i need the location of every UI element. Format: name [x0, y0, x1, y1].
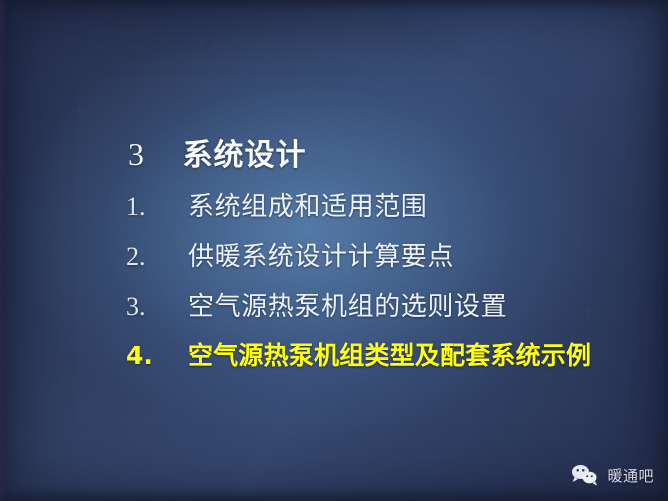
outline-item-label: 空气源热泵机组的选则设置 — [188, 286, 507, 323]
outline-item[interactable]: 2.供暖系统设计计算要点 — [126, 236, 646, 286]
section-heading: 3 系统设计 — [128, 130, 307, 174]
outline-item[interactable]: 3.空气源热泵机组的选则设置 — [126, 286, 646, 336]
outline-item[interactable]: 4.空气源热泵机组类型及配套系统示例 — [126, 336, 646, 386]
outline-item-label: 系统组成和适用范围 — [188, 186, 427, 223]
section-title: 系统设计 — [183, 130, 307, 174]
outline-item-number: 3. — [126, 292, 188, 322]
outline-item-number: 4. — [126, 341, 188, 370]
presentation-slide: 3 系统设计 1.系统组成和适用范围2.供暖系统设计计算要点3.空气源热泵机组的… — [0, 0, 668, 501]
section-number: 3 — [128, 136, 145, 173]
outline-list: 1.系统组成和适用范围2.供暖系统设计计算要点3.空气源热泵机组的选则设置4.空… — [126, 186, 646, 386]
wechat-icon — [570, 463, 600, 487]
outline-item-label: 空气源热泵机组类型及配套系统示例 — [188, 336, 591, 372]
wechat-watermark: 暖通吧 — [570, 463, 654, 487]
outline-item-number: 2. — [126, 242, 188, 272]
slide-content: 3 系统设计 1.系统组成和适用范围2.供暖系统设计计算要点3.空气源热泵机组的… — [0, 0, 668, 501]
outline-item-label: 供暖系统设计计算要点 — [188, 236, 454, 273]
watermark-label: 暖通吧 — [607, 465, 654, 486]
outline-item-number: 1. — [126, 192, 188, 222]
outline-item[interactable]: 1.系统组成和适用范围 — [126, 186, 646, 236]
